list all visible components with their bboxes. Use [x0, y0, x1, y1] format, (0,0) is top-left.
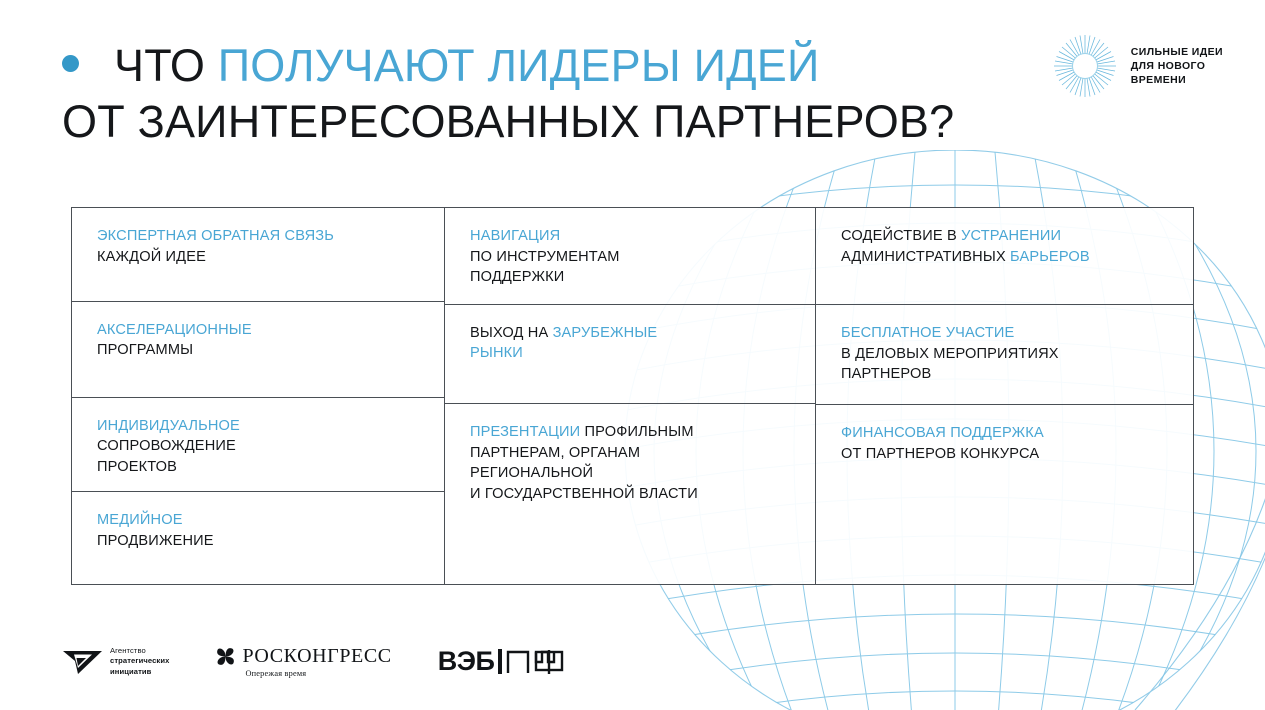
asi-line-2: стратегических — [110, 656, 169, 666]
table-cell-3-2: БЕСПЛАТНОЕ УЧАСТИЕ В ДЕЛОВЫХ МЕРОПРИЯТИЯ… — [816, 305, 1193, 405]
table-cell-1-3: ИНДИВИДУАЛЬНОЕ СОПРОВОЖДЕНИЕ ПРОЕКТОВ — [72, 398, 444, 492]
veb-rf-outline-icon — [506, 649, 564, 675]
table-cell-1-2: АКСЕЛЕРАЦИОННЫЕ ПРОГРАММЫ — [72, 302, 444, 398]
roscongress-tagline: Опережая время — [245, 669, 306, 678]
page-title: ЧТО ПОЛУЧАЮТ ЛИДЕРЫ ИДЕЙ ОТ ЗАИНТЕРЕСОВА… — [62, 38, 954, 150]
cell-plain-text: КАЖДОЙ ИДЕЕ — [97, 249, 206, 265]
radial-sunburst-circle-icon — [1052, 33, 1118, 99]
brand-logo: Сильные идеи для нового времени — [1052, 33, 1223, 99]
table-cell-1-1: ЭКСПЕРТНАЯ ОБРАТНАЯ СВЯЗЬ КАЖДОЙ ИДЕЕ — [72, 208, 444, 302]
asi-line-3: инициатив — [110, 667, 169, 677]
table-cell-3-1: СОДЕЙСТВИЕ В УСТРАНЕНИИ АДМИНИСТРАТИВНЫХ… — [816, 208, 1193, 305]
benefits-table: ЭКСПЕРТНАЯ ОБРАТНАЯ СВЯЗЬ КАЖДОЙ ИДЕЕ АК… — [71, 207, 1194, 585]
table-cell-3-3: ФИНАНСОВАЯ ПОДДЕРЖКА ОТ ПАРТНЕРОВ КОНКУР… — [816, 405, 1193, 583]
title-line-2: ОТ ЗАИНТЕРЕСОВАННЫХ ПАРТНЕРОВ? — [62, 94, 954, 150]
veb-divider — [498, 649, 502, 674]
cell-accent-text: ПРЕЗЕНТАЦИИ — [470, 424, 580, 440]
title-line-1-accent: ПОЛУЧАЮТ ЛИДЕРЫ ИДЕЙ — [218, 40, 820, 91]
cell-plain-text: СОДЕЙСТВИЕ В — [841, 228, 961, 244]
table-cell-2-1: НАВИГАЦИЯ ПО ИНСТРУМЕНТАМ ПОДДЕРЖКИ — [445, 208, 815, 305]
cell-accent-text: НАВИГАЦИЯ — [470, 228, 560, 244]
roscongress-name: РОСКОНГРЕСС — [242, 645, 391, 668]
logo-asi: Агентство стратегических инициатив — [62, 646, 169, 677]
cell-plain-text: ПРОГРАММЫ — [97, 342, 193, 358]
cell-accent-text-2: БАРЬЕРОВ — [1010, 249, 1090, 265]
roscongress-pinwheel-icon — [215, 646, 236, 667]
cell-accent-text: ИНДИВИДУАЛЬНОЕ — [97, 418, 240, 434]
cell-accent-text: БЕСПЛАТНОЕ УЧАСТИЕ — [841, 325, 1014, 341]
brand-line-3: времени — [1131, 73, 1223, 87]
title-line-1: ЧТО ПОЛУЧАЮТ ЛИДЕРЫ ИДЕЙ — [62, 38, 954, 94]
cell-plain-text: В ДЕЛОВЫХ МЕРОПРИЯТИЯХ ПАРТНЕРОВ — [841, 346, 1059, 383]
veb-text: ВЭБ — [438, 646, 495, 677]
brand-text: Сильные идеи для нового времени — [1131, 45, 1223, 87]
cell-plain-text: ОТ ПАРТНЕРОВ КОНКУРСА — [841, 446, 1039, 462]
table-column-3: СОДЕЙСТВИЕ В УСТРАНЕНИИ АДМИНИСТРАТИВНЫХ… — [816, 208, 1193, 584]
footer-logos: Агентство стратегических инициатив РОСКО… — [62, 645, 564, 678]
table-cell-2-2: ВЫХОД НА ЗАРУБЕЖНЫЕ РЫНКИ — [445, 305, 815, 405]
cell-plain-text: СОПРОВОЖДЕНИЕ ПРОЕКТОВ — [97, 438, 236, 475]
logo-roscongress: РОСКОНГРЕСС Опережая время — [215, 645, 391, 678]
cell-plain-text: ВЫХОД НА — [470, 325, 553, 341]
asi-arrow-icon — [62, 647, 104, 677]
table-cell-1-4: МЕДИЙНОЕ ПРОДВИЖЕНИЕ — [72, 492, 444, 584]
cell-accent-text: АКСЕЛЕРАЦИОННЫЕ — [97, 322, 252, 338]
cell-plain-text: ПРОДВИЖЕНИЕ — [97, 533, 214, 549]
asi-line-1: Агентство — [110, 646, 169, 656]
roscongress-row: РОСКОНГРЕСС — [215, 645, 391, 668]
cell-accent-text: ЭКСПЕРТНАЯ ОБРАТНАЯ СВЯЗЬ — [97, 228, 334, 244]
logo-veb-rf: ВЭБ — [438, 646, 565, 677]
brand-line-1: Сильные идеи — [1131, 45, 1223, 59]
bullet-icon — [62, 55, 79, 72]
cell-plain-text: ПО ИНСТРУМЕНТАМ ПОДДЕРЖКИ — [470, 249, 620, 286]
table-cell-2-3: ПРЕЗЕНТАЦИИ ПРОФИЛЬНЫМ ПАРТНЕРАМ, ОРГАНА… — [445, 404, 815, 584]
slide: ЧТО ПОЛУЧАЮТ ЛИДЕРЫ ИДЕЙ ОТ ЗАИНТЕРЕСОВА… — [0, 0, 1265, 710]
table-column-2: НАВИГАЦИЯ ПО ИНСТРУМЕНТАМ ПОДДЕРЖКИ ВЫХО… — [445, 208, 816, 584]
title-line-1-black: ЧТО — [114, 40, 205, 91]
brand-line-2: для нового — [1131, 59, 1223, 73]
cell-plain-text-2: АДМИНИСТРАТИВНЫХ — [841, 249, 1010, 265]
cell-accent-text: МЕДИЙНОЕ — [97, 512, 183, 528]
cell-accent-text: ФИНАНСОВАЯ ПОДДЕРЖКА — [841, 425, 1044, 441]
asi-text: Агентство стратегических инициатив — [110, 646, 169, 677]
cell-accent-text: УСТРАНЕНИИ — [961, 228, 1061, 244]
table-column-1: ЭКСПЕРТНАЯ ОБРАТНАЯ СВЯЗЬ КАЖДОЙ ИДЕЕ АК… — [72, 208, 445, 584]
